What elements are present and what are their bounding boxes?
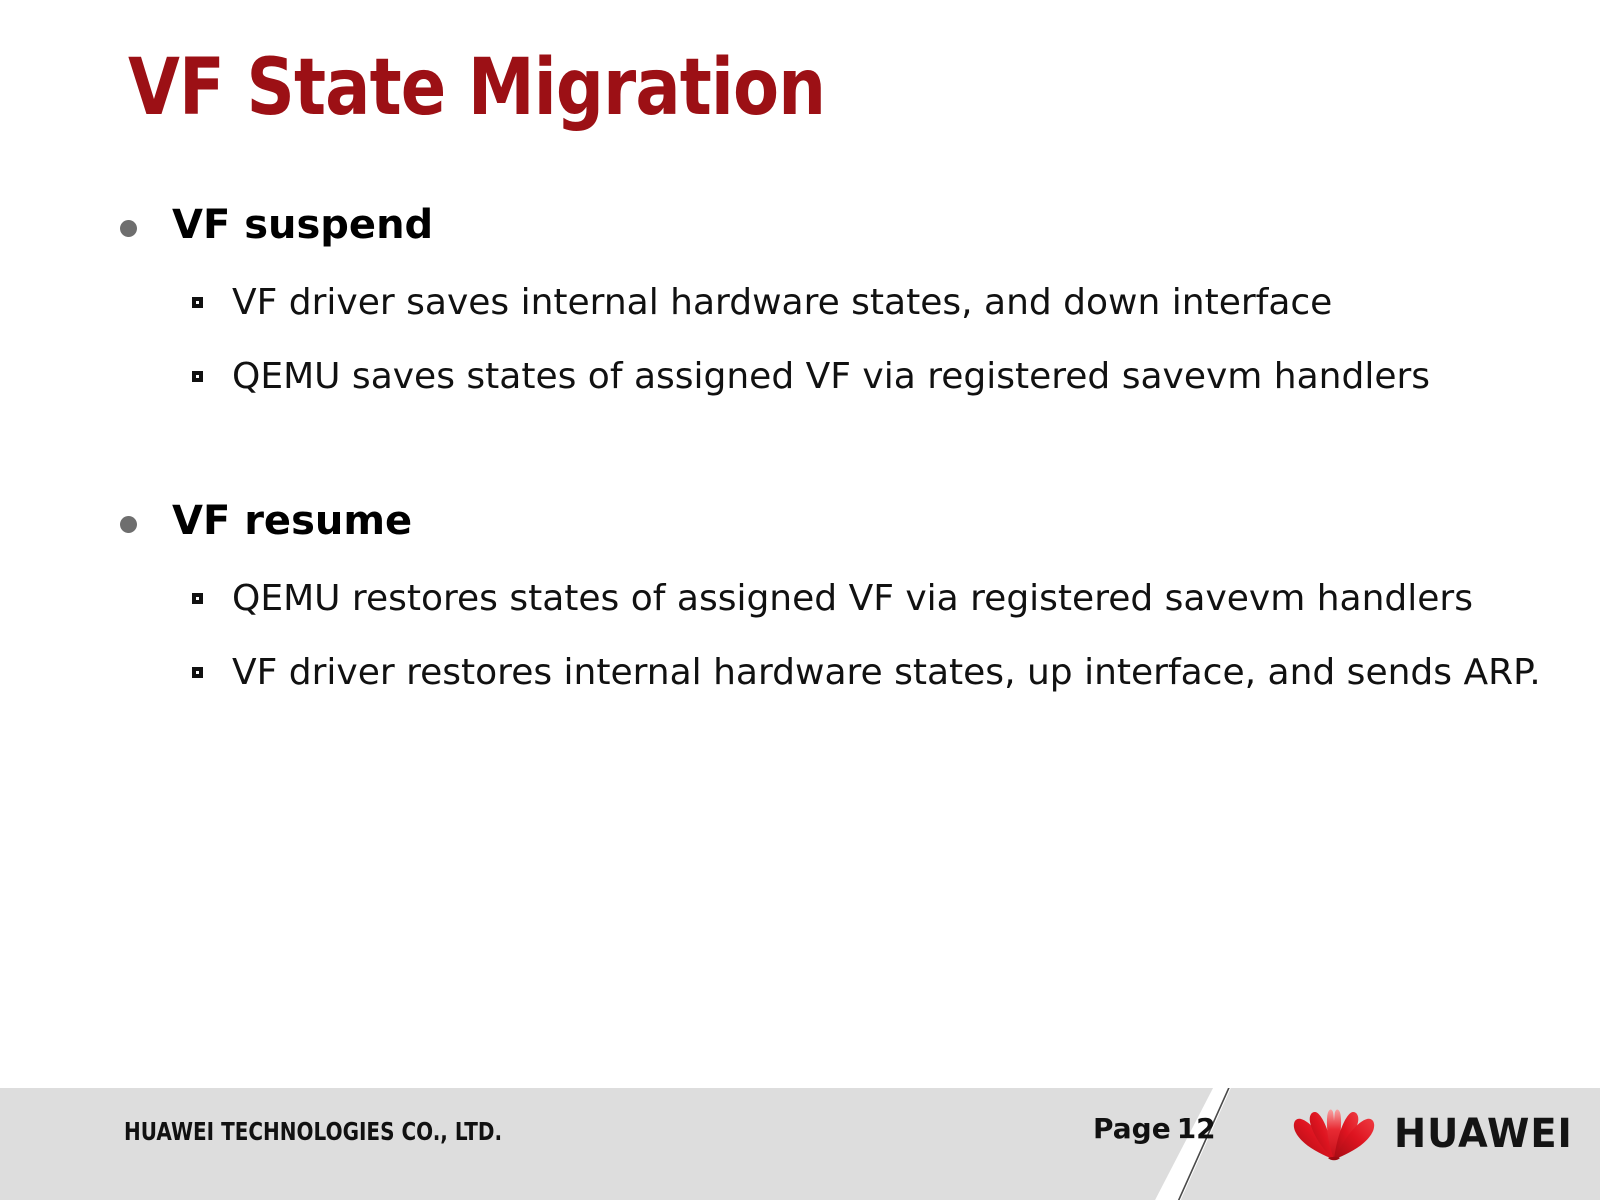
- slide-body: VF suspend VF driver saves internal hard…: [0, 200, 1600, 700]
- list-item: VF driver restores internal hardware sta…: [0, 650, 1600, 700]
- list-item: QEMU restores states of assigned VF via …: [0, 576, 1600, 626]
- page-number: 12: [1177, 1112, 1216, 1145]
- huawei-petal-logo-icon: [1288, 1104, 1380, 1164]
- page-title: VF State Migration: [128, 48, 825, 130]
- page-label: Page: [1093, 1112, 1171, 1145]
- section-heading-vf-resume: VF resume: [0, 496, 1600, 552]
- slide: VF State Migration VF suspend VF driver …: [0, 0, 1600, 1200]
- square-bullet-icon: [192, 593, 203, 604]
- list-item: VF driver saves internal hardware states…: [0, 280, 1600, 330]
- section-heading-label: VF resume: [172, 498, 412, 544]
- square-bullet-icon: [192, 371, 203, 382]
- list-item-label: QEMU saves states of assigned VF via reg…: [232, 356, 1430, 397]
- round-bullet-icon: [120, 516, 137, 533]
- list-item-label: QEMU restores states of assigned VF via …: [232, 578, 1473, 619]
- section-spacer: [0, 404, 1600, 496]
- square-bullet-icon: [192, 297, 203, 308]
- huawei-wordmark: HUAWEI: [1394, 1111, 1573, 1157]
- list-item: QEMU saves states of assigned VF via reg…: [0, 354, 1600, 404]
- list-item-label: VF driver saves internal hardware states…: [232, 282, 1332, 323]
- round-bullet-icon: [120, 220, 137, 237]
- square-bullet-icon: [192, 667, 203, 678]
- page-number-indicator: Page12: [1093, 1112, 1216, 1145]
- section-heading-vf-suspend: VF suspend: [0, 200, 1600, 256]
- huawei-logo: HUAWEI: [1288, 1098, 1578, 1170]
- section-heading-label: VF suspend: [172, 202, 433, 248]
- list-item-label: VF driver restores internal hardware sta…: [232, 652, 1541, 693]
- footer-company-name: HUAWEI TECHNOLOGIES CO., LTD.: [124, 1117, 502, 1146]
